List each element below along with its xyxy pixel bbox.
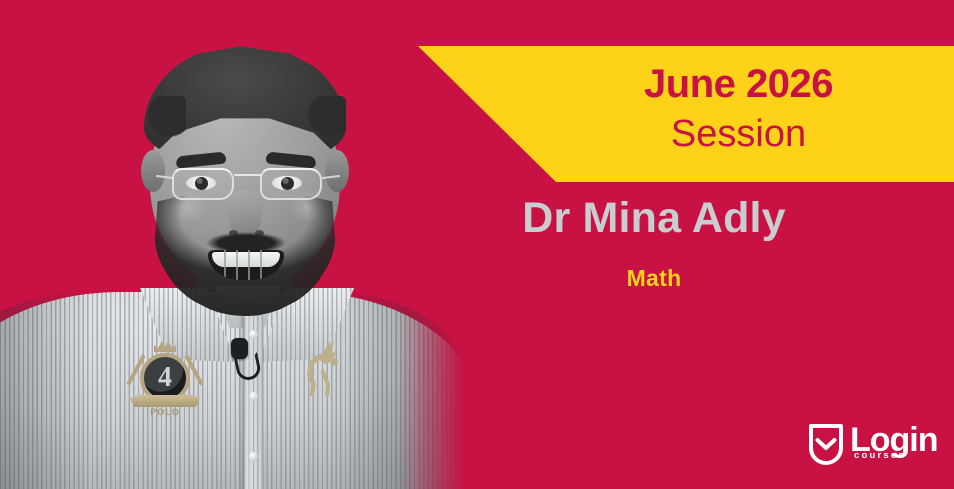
session-promo-banner: 4 POLO <box>0 0 954 489</box>
logo-wordmark-group: Login courses <box>850 424 938 456</box>
teeth-gap <box>260 250 262 280</box>
crest-wordmark: POLO <box>128 407 202 417</box>
shield-chevron-icon <box>808 424 844 466</box>
speaker-subject: Math <box>454 265 854 292</box>
crest-crown-icon <box>154 339 176 352</box>
speaker-portrait-photo: 4 POLO <box>0 0 470 489</box>
portrait-temple-hair-left <box>146 96 186 142</box>
teeth-gap <box>248 250 250 280</box>
teeth-gap <box>224 250 226 280</box>
glasses-lens-right <box>260 168 322 200</box>
speaker-info-group: Dr Mina Adly Math <box>454 196 854 292</box>
logo-tagline: courses <box>854 450 906 461</box>
session-ribbon-text-group: June 2026 Session <box>418 46 954 182</box>
polo-pony-icon <box>300 340 346 400</box>
glasses-bridge <box>234 174 262 176</box>
portrait-temple-hair-right <box>306 96 346 142</box>
portrait-shirt-button <box>249 330 258 339</box>
glasses-lens-left <box>172 168 234 200</box>
session-month-label: June 2026 <box>523 64 954 104</box>
crest-ribbon <box>130 395 200 407</box>
portrait-shirt-button <box>249 392 258 401</box>
session-word-label: Session <box>523 115 954 153</box>
speaker-name: Dr Mina Adly <box>454 196 854 241</box>
portrait-shirt-shadow-left <box>0 292 90 489</box>
portrait-shirt-button <box>249 452 258 461</box>
shirt-crest-emblem: 4 POLO <box>128 335 202 417</box>
login-courses-logo[interactable]: Login courses <box>808 424 944 472</box>
portrait-teeth <box>212 252 280 267</box>
teeth-gap <box>236 250 238 280</box>
